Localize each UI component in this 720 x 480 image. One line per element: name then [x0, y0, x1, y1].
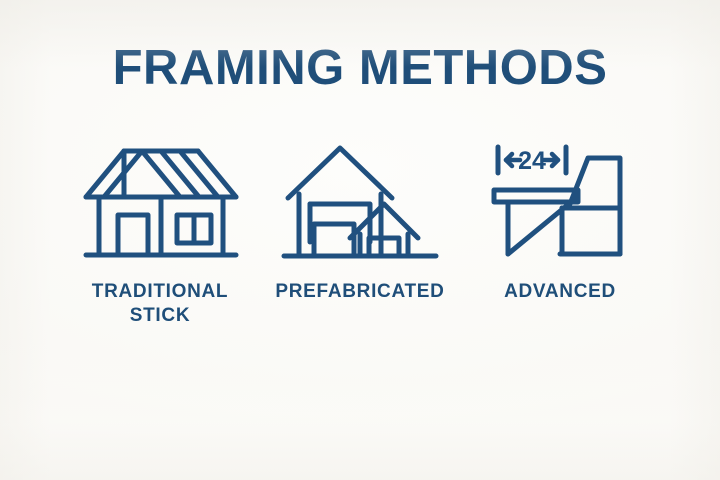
- reflection-overlay: TRADITIONAL STICK: [0, 345, 720, 480]
- page-title: FRAMING METHODS: [0, 40, 720, 96]
- icon-container-mirror: 24: [490, 425, 630, 480]
- stud-spacing-24-icon-mirror: 24: [490, 427, 630, 480]
- reflection-fade: [0, 345, 720, 480]
- infographic-canvas: FRAMING METHODS: [0, 0, 720, 480]
- method-card-mirror-2: PREFABRICATED: [260, 386, 460, 480]
- two-houses-icon-mirror: [280, 427, 440, 480]
- dimension-value-24: 24: [518, 147, 546, 175]
- methods-row-mirror: TRADITIONAL STICK: [0, 362, 720, 480]
- two-houses-icon: [280, 142, 440, 264]
- method-card-traditional-stick[interactable]: TRADITIONAL STICK: [60, 140, 260, 328]
- icon-container: [80, 140, 240, 265]
- method-label-mirror: ADVANCED: [504, 386, 616, 410]
- house-with-rafters-icon: [80, 142, 240, 264]
- method-card-mirror-3: 24 ADVANCED: [460, 386, 660, 480]
- methods-row: TRADITIONAL STICK: [0, 140, 720, 328]
- icon-container: [280, 140, 440, 265]
- method-label: ADVANCED: [504, 280, 616, 304]
- stud-spacing-24-icon: 24: [490, 142, 630, 264]
- method-label-mirror: TRADITIONAL STICK: [92, 362, 228, 410]
- house-with-rafters-icon-mirror: [80, 427, 240, 480]
- icon-container: 24: [490, 140, 630, 265]
- method-card-prefabricated[interactable]: PREFABRICATED: [260, 140, 460, 304]
- method-card-advanced[interactable]: 24 ADVANCED: [460, 140, 660, 304]
- method-label: TRADITIONAL STICK: [92, 280, 228, 328]
- method-label-mirror: PREFABRICATED: [275, 386, 444, 410]
- icon-container-mirror: [280, 425, 440, 480]
- method-label: PREFABRICATED: [275, 280, 444, 304]
- method-card-mirror-1: TRADITIONAL STICK: [60, 362, 260, 480]
- icon-container-mirror: [80, 425, 240, 480]
